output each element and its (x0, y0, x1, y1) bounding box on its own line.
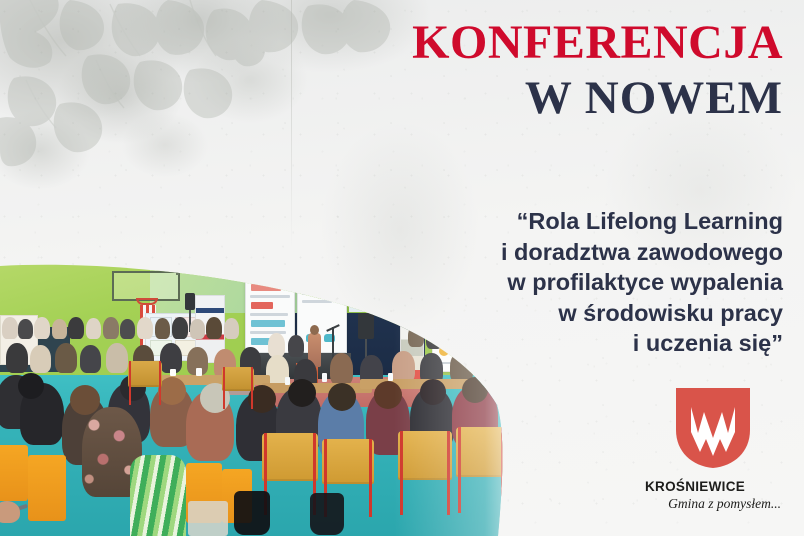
conference-poster: KONFERENCJA W NOWEM “Rola Lifelong Learn… (0, 0, 804, 536)
poster-headline: KONFERENCJA W NOWEM (363, 18, 783, 124)
quote-line-4: w środowisku pracy (353, 298, 783, 329)
logo-municipality-name: KROŚNIEWICE (645, 479, 785, 494)
headline-line-1: KONFERENCJA (363, 18, 783, 69)
krosniewice-logo: KROŚNIEWICE Gmina z pomysłem... (640, 382, 790, 527)
quote-line-5: i uczenia się” (353, 328, 783, 359)
quote-line-1: “Rola Lifelong Learning (353, 206, 783, 237)
logo-tagline: Gmina z pomysłem... (645, 496, 785, 512)
poster-quote: “Rola Lifelong Learning i doradztwa zawo… (353, 206, 783, 359)
quote-line-2: i doradztwa zawodowego (353, 237, 783, 268)
headline-line-2: W NOWEM (363, 74, 783, 124)
krosniewice-coat-of-arms-shield-icon (674, 386, 752, 470)
quote-line-3: w profilaktyce wypalenia (353, 267, 783, 298)
